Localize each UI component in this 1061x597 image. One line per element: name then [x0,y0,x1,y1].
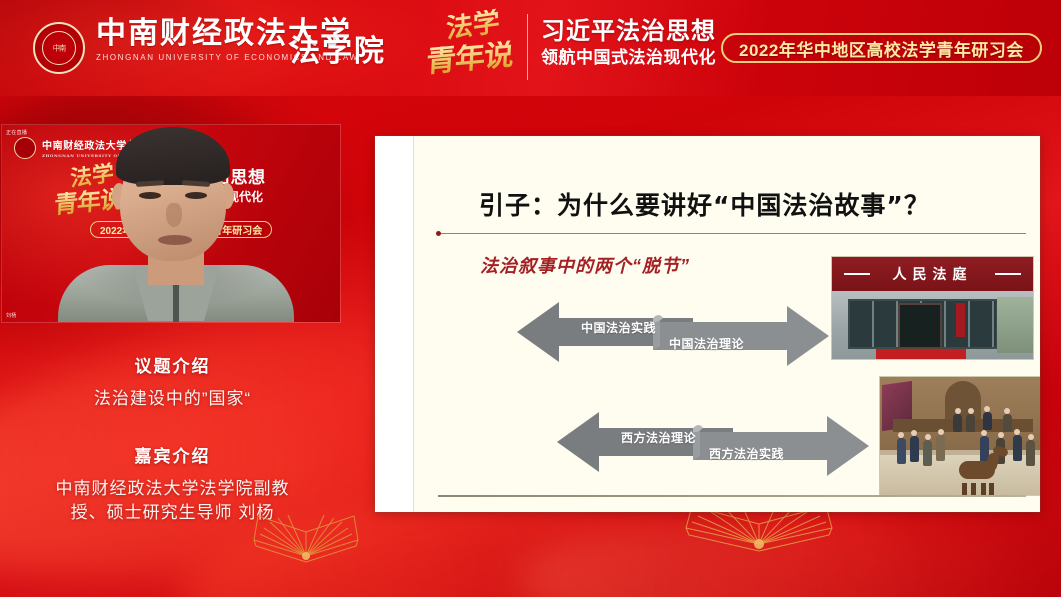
speaker-nose [166,203,182,227]
slogan-line-2: 领航中国式法治现代化 [541,48,716,68]
court-entrance-door [898,303,942,349]
guest-heading: 嘉宾介绍 [0,442,345,467]
litho-figure [1026,440,1035,466]
guest-line-1: 中南财经政法大学法学院副教 [0,477,345,500]
speaker-hair [116,127,230,185]
court-red-carpet [876,349,966,359]
slide-title: 引子：为什么要讲好“中国法治故事”？ [479,186,930,222]
arrow-pair-1-right-label: 中国法治理论 [669,335,744,352]
speaker-figure [2,125,340,322]
logo-line-1: 法学 [446,8,500,43]
livestream-screen: 中南 中南财经政法大学 ZHONGNAN UNIVERSITY OF ECONO… [0,0,1061,597]
slide-bottom-rule [438,495,1026,497]
court-signboard-text: 人民法庭 [893,264,973,284]
background-silk-sweep [517,503,1061,597]
event-title-badge: 2022年华中地区高校法学青年研习会 [721,33,1042,63]
litho-figure [897,438,906,464]
arrow-pair-2: 西方法治理论 西方法治实践 [557,406,869,478]
litho-figure [953,414,962,432]
western-courtroom-lithograph [879,376,1040,496]
arrow-pair-1-left-label: 中国法治实践 [581,319,656,336]
session-info-panel: 议题介绍 法治建设中的”国家“ 嘉宾介绍 中南财经政法大学法学院副教 授、硕士研… [0,352,345,524]
slide-content-area: 引子：为什么要讲好“中国法治故事”？ 法治叙事中的两个“脱节” 中国法治实践 中… [414,136,1040,512]
double-arrow-graphic [517,296,829,368]
arrow-pair-1: 中国法治实践 中国法治理论 [517,296,829,368]
video-corner-tag-top: 正在直播 [6,129,27,136]
litho-judge-canopy [945,381,981,421]
litho-horse [953,455,1003,489]
double-arrow-graphic [557,406,869,478]
arrow-pair-2-left-label: 西方法治理论 [621,429,696,446]
info-spacer [0,410,345,442]
court-side-greenery [997,297,1033,353]
litho-figure [1003,414,1012,432]
litho-figure [923,440,932,466]
speaker-video-tile[interactable]: 中南财经政法大学 ZHONGNAN UNIVERSITY OF ECONOMIC… [2,125,340,322]
litho-figure [983,412,992,430]
litho-figure [910,436,919,462]
slide-title-rule [438,233,1026,234]
topic-heading: 议题介绍 [0,352,345,377]
slide-subtitle: 法治叙事中的两个“脱节” [480,252,690,278]
slogan-line-1: 习近平法治思想 [541,19,716,46]
litho-figure [966,414,975,432]
litho-figure [1013,435,1022,461]
school-name-cn: 法学院 [290,26,386,70]
university-seal-text: 中南 [53,43,66,53]
event-banner: 中南 中南财经政法大学 ZHONGNAN UNIVERSITY OF ECONO… [0,0,1061,96]
faxue-qingnianshuo-logo: 法学 青年说 [424,8,520,88]
litho-figure [936,435,945,461]
guest-line-2: 授、硕士研究生导师 刘杨 [0,501,345,524]
speaker-eye-right [185,192,207,199]
presentation-slide[interactable]: 引子：为什么要讲好“中国法治故事”？ 法治叙事中的两个“脱节” 中国法治实践 中… [375,136,1040,512]
banner-divider [527,14,528,80]
speaker-mouth [158,235,192,245]
logo-line-2: 青年说 [425,40,513,78]
speaker-eye-left [139,192,161,199]
video-corner-tag-bottom: 刘杨 [6,312,17,319]
topic-text: 法治建设中的”国家“ [0,387,345,410]
university-seal-icon: 中南 [33,22,85,74]
arrow-pair-2-right-label: 西方法治实践 [709,445,784,462]
slide-left-margin-strip [375,136,414,512]
banner-slogan: 习近平法治思想 领航中国式法治现代化 [541,19,716,68]
court-signboard: 人民法庭 [832,257,1033,291]
people-court-photo: 人民法庭 [831,256,1034,360]
court-red-banner [956,303,965,337]
